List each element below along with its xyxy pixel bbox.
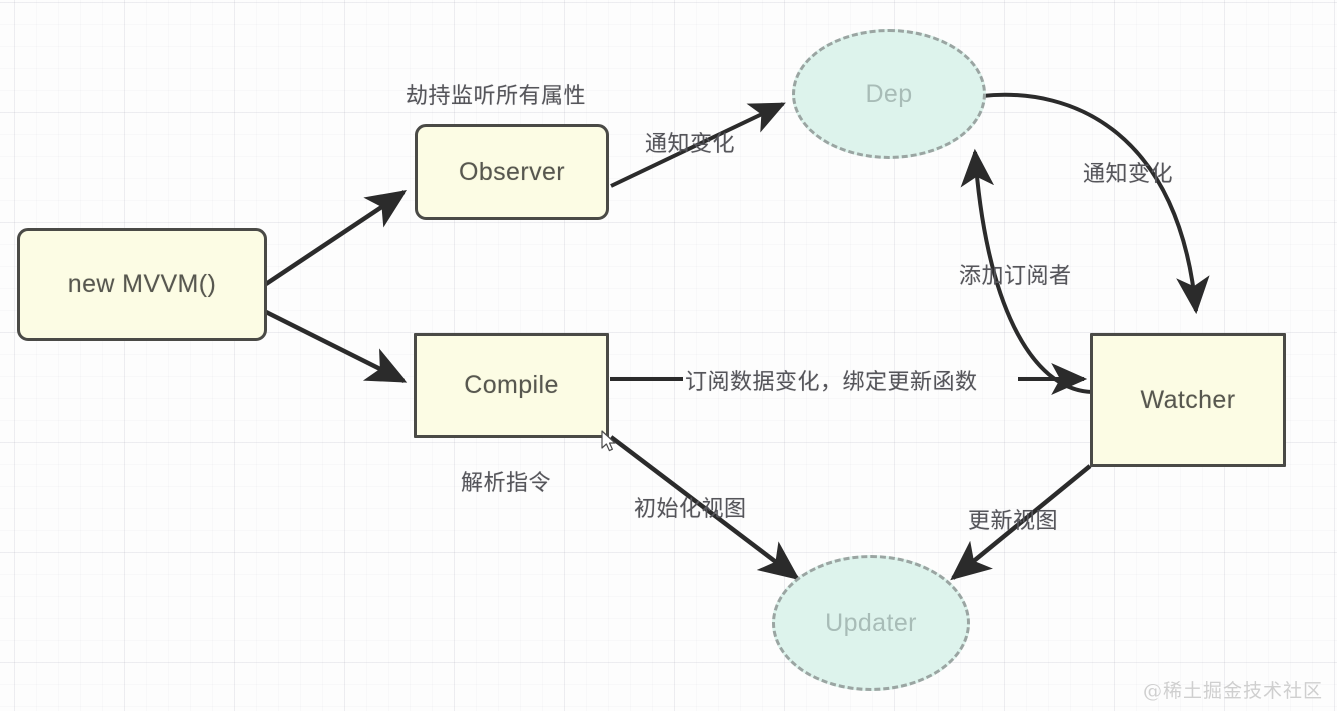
edge-mvvm-observer (266, 192, 404, 284)
node-updater[interactable]: Updater (772, 555, 970, 691)
watermark: @稀土掘金技术社区 (1143, 676, 1323, 703)
edge-label-notify-change-top: 通知变化 (645, 126, 735, 158)
edge-label-parse-directives: 解析指令 (461, 465, 551, 497)
node-compile[interactable]: Compile (414, 333, 609, 438)
edge-mvvm-compile (266, 312, 404, 381)
edge-label-subscribe-bind-update: 订阅数据变化，绑定更新函数 (685, 364, 978, 396)
edge-label-notify-change-right: 通知变化 (1083, 156, 1173, 188)
node-new-mvvm[interactable]: new MVVM() (17, 228, 267, 341)
node-compile-label: Compile (464, 371, 559, 400)
node-updater-label: Updater (825, 609, 917, 638)
diagram-canvas: new MVVM() Observer Compile Watcher Dep … (0, 0, 1337, 711)
edge-label-init-view: 初始化视图 (634, 491, 747, 523)
node-new-mvvm-label: new MVVM() (68, 270, 216, 299)
node-observer-label: Observer (459, 158, 565, 187)
mouse-cursor-icon (601, 430, 619, 454)
node-watcher[interactable]: Watcher (1090, 333, 1286, 467)
node-watcher-label: Watcher (1141, 386, 1236, 415)
node-dep[interactable]: Dep (792, 29, 986, 159)
edge-label-add-subscriber: 添加订阅者 (959, 258, 1072, 290)
node-observer[interactable]: Observer (415, 124, 609, 220)
edge-label-hijack-listen-all-props: 劫持监听所有属性 (406, 78, 586, 110)
node-dep-label: Dep (865, 80, 912, 109)
edge-label-update-view: 更新视图 (968, 503, 1058, 535)
